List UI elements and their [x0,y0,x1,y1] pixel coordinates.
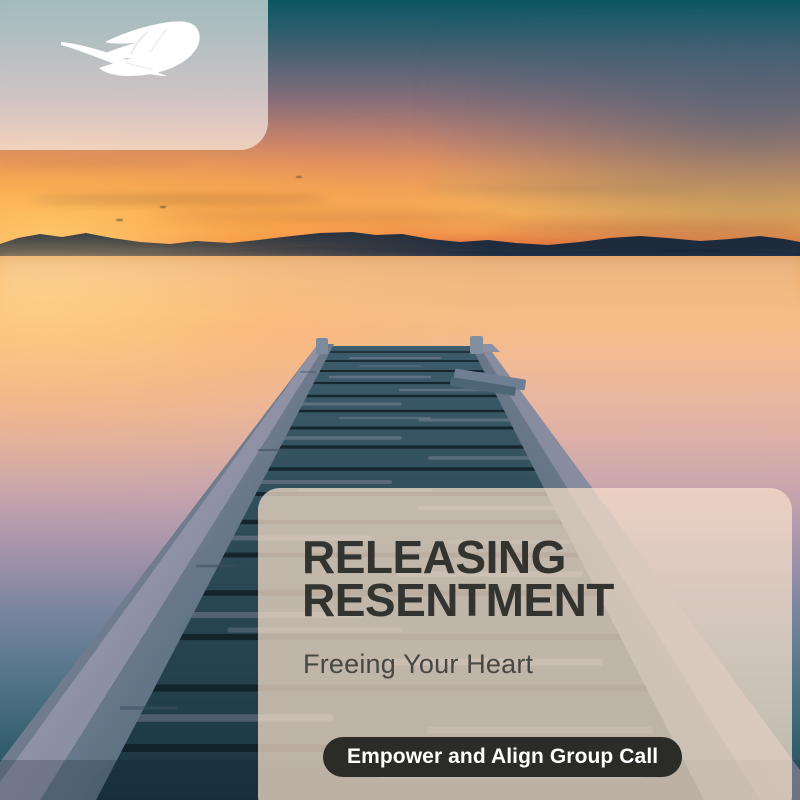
cloud-streak [0,160,190,165]
poster-canvas: RELEASING RESENTMENT Freeing Your Heart … [0,0,800,800]
bird-silhouette [160,206,166,208]
page-subtitle: Freeing Your Heart [303,649,533,680]
water-sheen [0,258,800,328]
bird-silhouette [116,219,123,221]
bird-silhouette [296,176,302,178]
feather-icon [55,18,205,90]
group-call-badge[interactable]: Empower and Align Group Call [323,737,682,777]
cloud-streak [420,186,700,192]
cloud-streak [30,196,330,203]
page-title: RELEASING RESENTMENT [302,536,772,622]
cloud-streak [150,213,510,219]
